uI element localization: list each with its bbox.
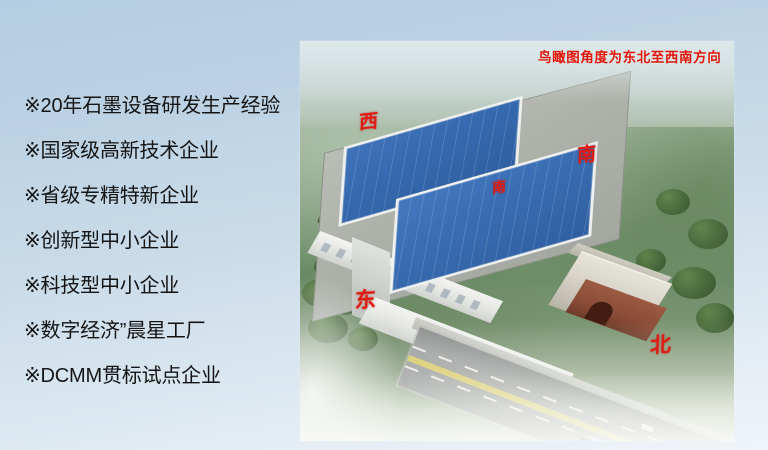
tree: [348, 327, 378, 351]
factory-aerial-rendering-image: 西 南 东 北 南 鸟瞰图角度为东北至西南方向: [300, 41, 734, 441]
list-item: ※科技型中小企业: [24, 276, 294, 297]
list-item: ※创新型中小企业: [24, 231, 294, 252]
direction-mark-north: 北: [650, 334, 672, 357]
list-item: ※数字经济”晨星工厂: [24, 321, 294, 342]
direction-mark-west: 西: [359, 112, 379, 133]
list-item: ※20年石墨设备研发生产经验: [24, 96, 294, 117]
tree: [696, 303, 734, 333]
rendering-caption: 鸟瞰图角度为东北至西南方向: [538, 52, 721, 66]
list-item: ※省级专精特新企业: [24, 186, 294, 207]
direction-mark-south: 南: [577, 145, 597, 166]
tree: [656, 189, 690, 215]
list-item: ※DCMM贯标试点企业: [24, 366, 294, 387]
direction-mark-east: 东: [355, 289, 377, 312]
tree: [688, 219, 728, 249]
slide-canvas: ※20年石墨设备研发生产经验 ※国家级高新技术企业 ※省级专精特新企业 ※创新型…: [0, 0, 768, 450]
direction-mark-center: 南: [492, 180, 506, 197]
tree: [672, 267, 716, 299]
car: [640, 423, 654, 433]
company-credentials-list: ※20年石墨设备研发生产经验 ※国家级高新技术企业 ※省级专精特新企业 ※创新型…: [24, 96, 294, 387]
list-item: ※国家级高新技术企业: [24, 141, 294, 162]
